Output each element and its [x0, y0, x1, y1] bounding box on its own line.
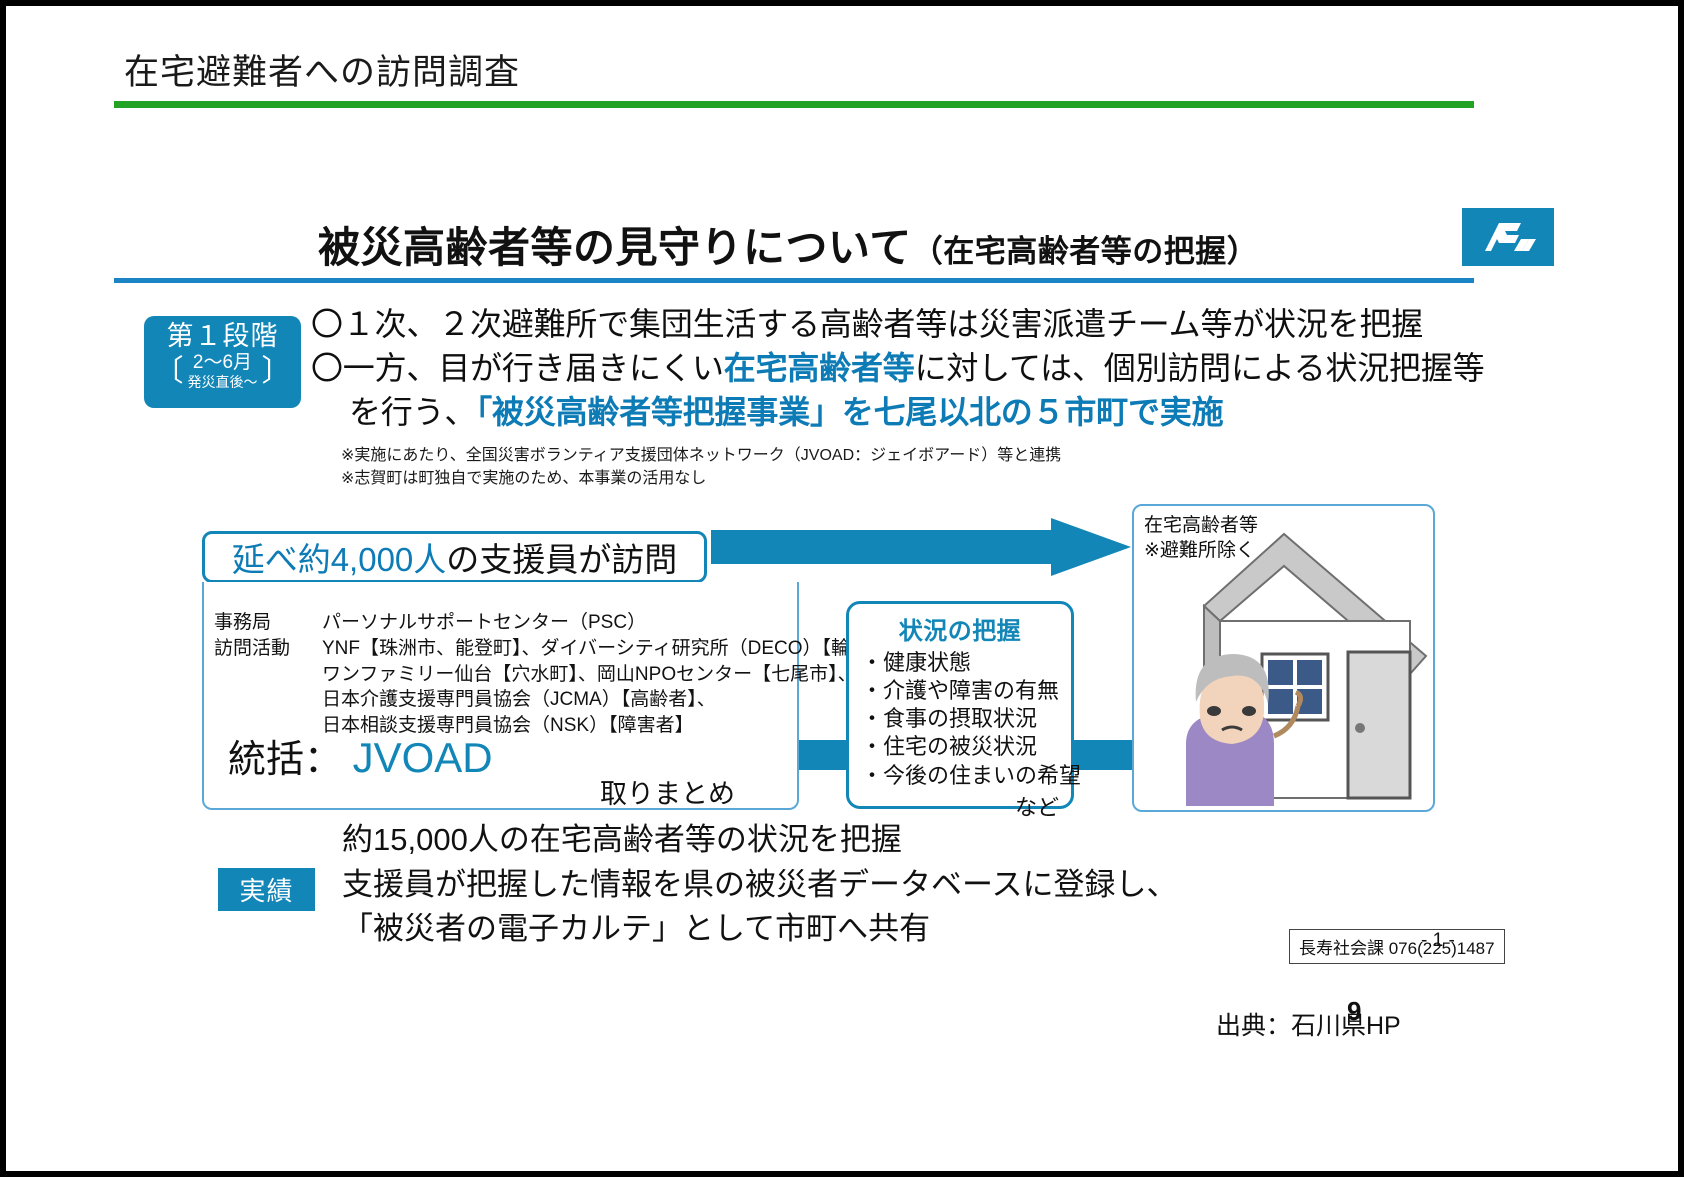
bullet-3-part-a: を行う、: [349, 394, 476, 430]
arrow-right-icon: [711, 518, 1131, 576]
page-number: - 1 -: [1421, 930, 1455, 952]
org-value-visits-2: ワンファミリー仙台【穴水町】、岡山NPOセンター【七尾市】、: [214, 662, 907, 688]
org-value-visits: YNF【珠洲市、能登町】、ダイバーシティ研究所（DECO）【輪島市】: [322, 636, 907, 662]
title-divider: [114, 278, 1474, 283]
results-badge: 実績: [218, 868, 315, 911]
org-label-secretariat: 事務局: [214, 610, 322, 636]
visit-headline-box: 延べ約4,000人の支援員が訪問: [202, 531, 707, 583]
page-title: 在宅避難者への訪問調査: [124, 44, 520, 95]
visit-headline: 延べ約4,000人の支援員が訪問: [232, 533, 678, 581]
house-label-line-2: ※避難所除く: [1144, 539, 1258, 564]
status-item: ・健康状態: [861, 649, 1071, 677]
organization-list: 事務局 パーソナルサポートセンター（PSC） 訪問活動 YNF【珠洲市、能登町】…: [214, 610, 907, 739]
org-label-visits: 訪問活動: [214, 636, 322, 662]
contact-box: 長寿社会課 076(225)1487: [1289, 929, 1505, 964]
slide-number: 9: [1347, 996, 1361, 1027]
visit-headline-accent: 延べ約4,000人: [232, 541, 447, 578]
note-list: ※実施にあたり、全国災害ボランティア支援団体ネットワーク（JVOAD：ジェイボア…: [341, 444, 1061, 490]
status-capture-box: 状況の把握 ・健康状態 ・介護や障害の有無 ・食事の摂取状況 ・住宅の被災状況 …: [846, 601, 1074, 809]
org-row-secretariat: 事務局 パーソナルサポートセンター（PSC）: [214, 610, 907, 636]
status-item-list: ・健康状態 ・介護や障害の有無 ・食事の摂取状況 ・住宅の被災状況 ・今後の住ま…: [849, 649, 1071, 790]
bracket-left: 〔: [154, 358, 184, 385]
main-title-subtext: （在宅高齢者等の把握）: [912, 234, 1259, 269]
supervisor-line: 統括： JVOAD: [228, 728, 493, 783]
bracket-right: 〕: [262, 358, 292, 385]
supervisor-value: JVOAD: [353, 734, 493, 781]
arrow-left-label: 取りまとめ: [600, 772, 735, 811]
status-trailing: など: [849, 790, 1071, 822]
bullet-list: 〇１次、２次避難所で集団生活する高齢者等は災害派遣チーム等が状況を把握 〇一方、…: [311, 302, 1476, 434]
results-lines: 約15,000人の在宅高齢者等の状況を把握 支援員が把握した情報を県の被災者デー…: [342, 818, 1177, 952]
note-item-2: ※志賀町は町独自で実施のため、本事業の活用なし: [341, 467, 1061, 490]
org-row-visits: 訪問活動 YNF【珠洲市、能登町】、ダイバーシティ研究所（DECO）【輪島市】: [214, 636, 907, 662]
results-line-1: 約15,000人の在宅高齢者等の状況を把握: [342, 818, 1177, 863]
bullet-2-highlight: 在宅高齢者等: [724, 350, 915, 386]
stage-period: 2〜6月: [188, 353, 258, 374]
bullet-3-highlight: 「被災高齢者等把握事業」を七尾以北の５市町で実施: [476, 394, 1223, 430]
ishikawa-prefecture-logo-icon: [1462, 208, 1554, 266]
note-item-1: ※実施にあたり、全国災害ボランティア支援団体ネットワーク（JVOAD：ジェイボア…: [341, 444, 1061, 467]
stage-period-row: 〔 2〜6月 発災直後〜 〕: [144, 353, 301, 391]
bullet-line-2: 〇一方、目が行き届きにくい在宅高齢者等に対しては、個別訪問による状況把握等: [311, 346, 1476, 390]
slide-main-title: 被災高齢者等の見守りについて（在宅高齢者等の把握）: [318, 214, 1258, 275]
status-item: ・食事の摂取状況: [861, 705, 1071, 733]
bullet-2-part-c: に対しては、個別訪問による状況把握等: [915, 350, 1485, 386]
org-value-visits-3: 日本介護支援専門員協会（JCMA）【高齢者】、: [214, 687, 907, 713]
bullet-line-1: 〇１次、２次避難所で集団生活する高齢者等は災害派遣チーム等が状況を把握: [311, 302, 1476, 346]
house-label: 在宅高齢者等 ※避難所除く: [1144, 514, 1258, 563]
results-line-2: 支援員が把握した情報を県の被災者データベースに登録し、: [342, 863, 1177, 908]
source-note: 出典：石川県HP: [1216, 1006, 1401, 1042]
supervisor-label: 統括：: [228, 739, 342, 781]
bullet-2-part-a: 〇一方、目が行き届きにくい: [311, 350, 724, 386]
status-item: ・介護や障害の有無: [861, 677, 1071, 705]
status-item: ・住宅の被災状況: [861, 733, 1071, 761]
bullet-line-3: を行う、「被災高齢者等把握事業」を七尾以北の５市町で実施: [311, 390, 1476, 434]
main-title-text: 被災高齢者等の見守りについて: [318, 224, 912, 271]
slide-root: 在宅避難者への訪問調査 被災高齢者等の見守りについて（在宅高齢者等の把握） 第１…: [0, 0, 1684, 1177]
status-box-title: 状況の把握: [849, 611, 1071, 646]
org-value-secretariat: パーソナルサポートセンター（PSC）: [322, 610, 646, 636]
header-divider: [114, 101, 1474, 108]
stage-badge: 第１段階 〔 2〜6月 発災直後〜 〕: [144, 316, 301, 408]
house-label-line-1: 在宅高齢者等: [1144, 514, 1258, 539]
visit-headline-rest: の支援員が訪問: [446, 541, 677, 578]
stage-note: 発災直後〜: [188, 374, 258, 391]
results-line-3: 「被災者の電子カルテ」として市町へ共有: [342, 907, 1177, 952]
stage-period-group: 2〜6月 発災直後〜: [188, 353, 258, 391]
stage-label: 第１段階: [144, 321, 301, 352]
status-item: ・今後の住まいの希望: [861, 762, 1071, 790]
